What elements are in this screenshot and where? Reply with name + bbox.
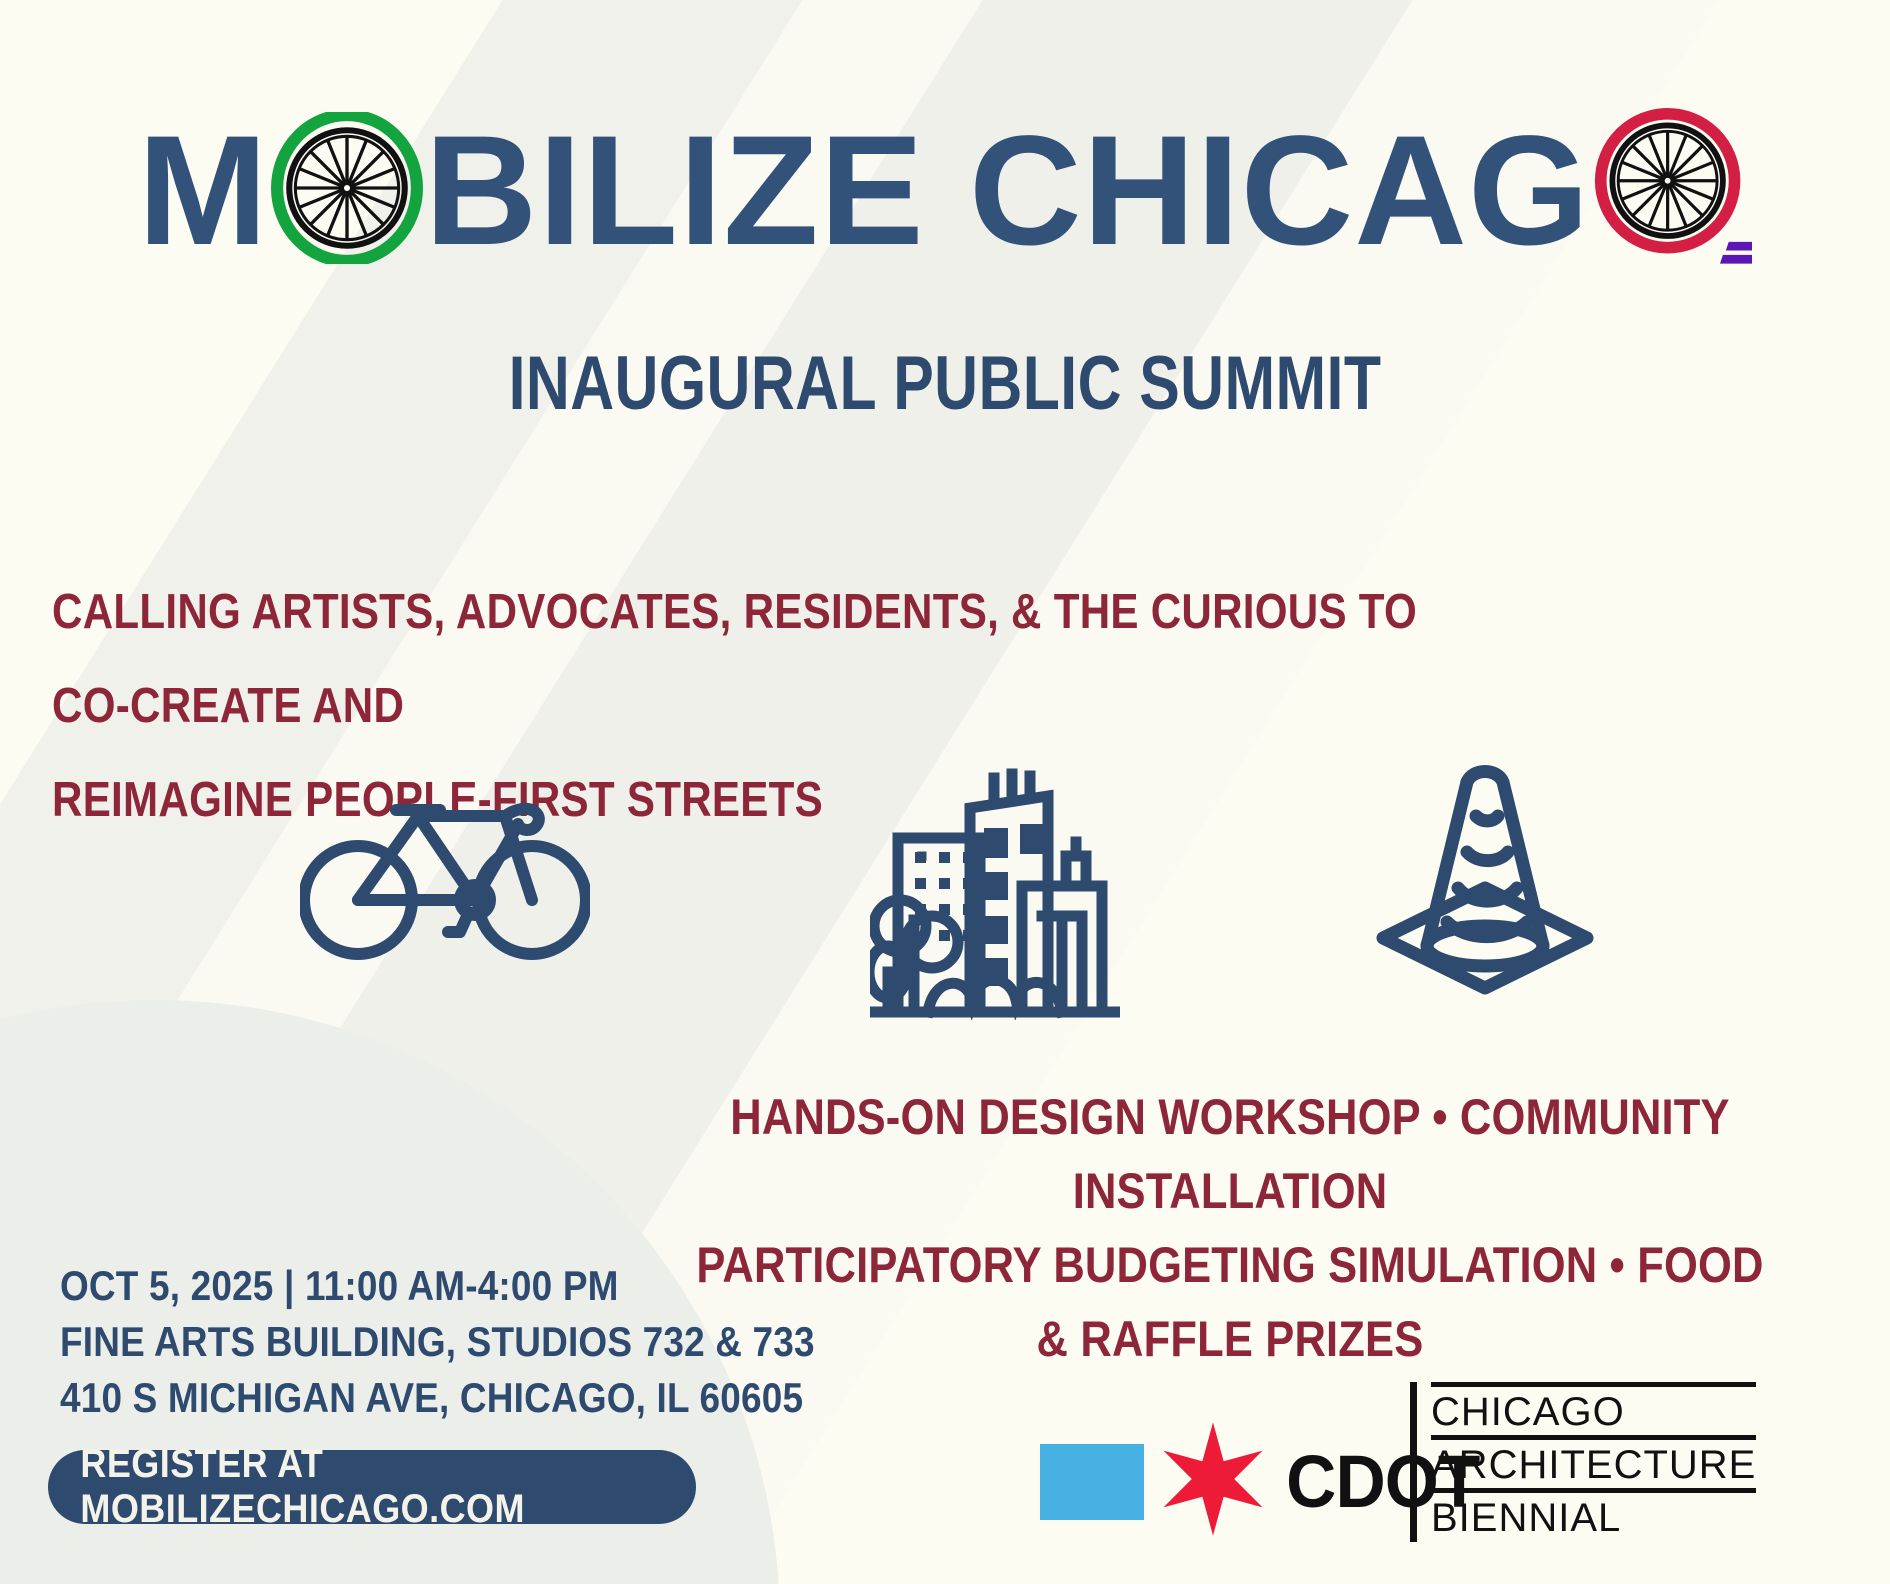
cab-line-biennial: BIENNIAL [1431, 1488, 1756, 1541]
bicycle-icon [300, 770, 590, 975]
title-part-m: M [138, 113, 269, 269]
cab-line-chicago: CHICAGO [1431, 1382, 1756, 1435]
chicago-architecture-biennial-logo: CHICAGO ARCHITECTURE BIENNIAL [1410, 1382, 1756, 1542]
callout-line-1: CALLING ARTISTS, ADVOCATES, RESIDENTS, &… [52, 565, 1428, 753]
title-part-rest: BILIZE CHICAG [425, 113, 1591, 269]
icon-row [0, 760, 1890, 1040]
poster-canvas: M [0, 0, 1890, 1584]
event-details: OCT 5, 2025 | 11:00 AM-4:00 PM FINE ARTS… [60, 1258, 918, 1426]
purple-road-lines-icon [1720, 242, 1752, 264]
red-bicycle-wheel-icon [1592, 108, 1752, 273]
sponsor-logos: CDOT CHICAGO ARCHITECTURE BIENNIAL [1020, 1400, 1840, 1550]
register-button-label: REGISTER AT MOBILIZECHICAGO.COM [80, 1442, 663, 1532]
chicago-six-point-star-icon [1154, 1420, 1272, 1543]
cab-vertical-rule [1410, 1382, 1417, 1542]
event-venue: FINE ARTS BUILDING, STUDIOS 732 & 733 [60, 1314, 815, 1370]
traffic-cone-icon [1375, 760, 1595, 1015]
cab-line-architecture: ARCHITECTURE [1431, 1435, 1756, 1488]
page-subtitle: INAUGURAL PUBLIC SUMMIT [189, 340, 1701, 427]
event-address: 410 S MICHIGAN AVE, CHICAGO, IL 60605 [60, 1370, 815, 1426]
event-date-time: OCT 5, 2025 | 11:00 AM-4:00 PM [60, 1258, 815, 1314]
chicago-flag-bar-icon [1040, 1444, 1144, 1520]
poster-title: M [0, 108, 1890, 273]
cityscape-icon [870, 760, 1120, 1025]
green-bicycle-wheel-icon [271, 112, 423, 269]
program-line-1: HANDS-ON DESIGN WORKSHOP • COMMUNITY INS… [682, 1080, 1778, 1228]
register-button[interactable]: REGISTER AT MOBILIZECHICAGO.COM [48, 1450, 696, 1524]
cab-wordmark: CHICAGO ARCHITECTURE BIENNIAL [1431, 1382, 1756, 1542]
